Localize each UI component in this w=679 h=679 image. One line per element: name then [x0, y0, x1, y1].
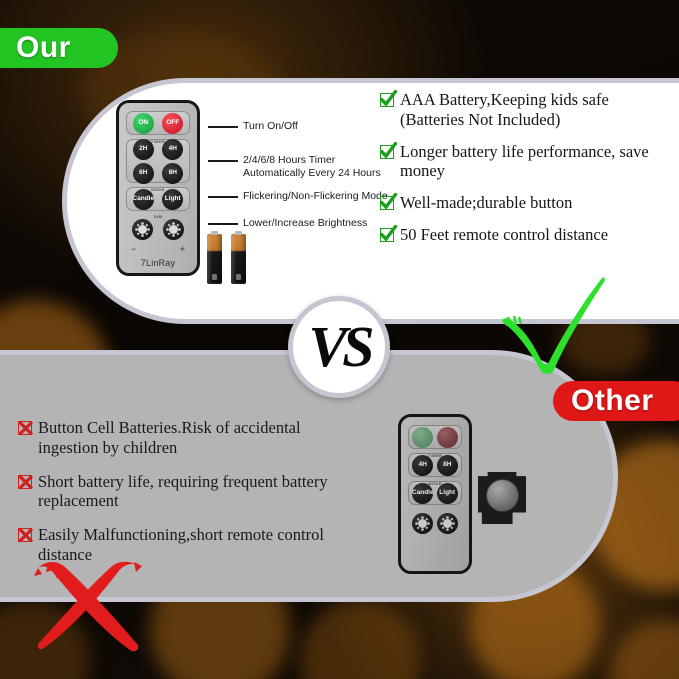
dim-plus-sign: + [180, 245, 185, 254]
other-remote-dim-down-button[interactable] [412, 513, 433, 534]
cross-icon [18, 528, 32, 542]
list-item: AAA Battery,Keeping kids safe (Batteries… [380, 90, 672, 130]
list-item: 50 Feet remote control distance [380, 225, 672, 245]
aaa-battery-pair [207, 234, 246, 284]
remote-off-button[interactable]: OFF [162, 113, 183, 134]
drawback-text: Button Cell Batteries.Risk of accidental… [38, 418, 358, 458]
coin-cell-battery-icon [478, 472, 526, 524]
remote-dim-group: DIM [126, 215, 190, 243]
our-remote-control: ON OFF TIMER 2H 4H 6H 8H MODE Candle Lig… [116, 100, 200, 276]
remote-on-button[interactable]: ON [133, 113, 154, 134]
benefit-text: AAA Battery,Keeping kids safe (Batteries… [400, 90, 672, 130]
check-icon [380, 196, 394, 210]
mode-group-label: MODE [127, 187, 189, 192]
other-timer-group-label: TIMER [409, 453, 461, 458]
callout-label: Flickering/Non-Flickering Mode [243, 190, 388, 203]
callout-leader-line [208, 160, 238, 162]
remote-power-group: ON OFF [126, 111, 190, 135]
callout-leader-line [208, 126, 238, 128]
benefits-list: AAA Battery,Keeping kids safe (Batteries… [380, 90, 672, 257]
callout-label: Turn On/Off [243, 120, 298, 133]
benefit-text: Longer battery life performance, save mo… [400, 142, 672, 182]
other-remote-mode-group: MODE Candle Light [408, 481, 462, 505]
big-check-icon [498, 276, 608, 374]
big-cross-icon [30, 558, 148, 656]
remote-timer-group: TIMER 2H 4H 6H 8H [126, 139, 190, 183]
other-remote-control: TIMER 4H 8H MODE Candle Light [398, 414, 472, 574]
list-item: Short battery life, requiring frequent b… [18, 472, 358, 512]
callout-label: 2/4/6/8 Hours Timer Automatically Every … [243, 154, 381, 181]
drawback-text: Short battery life, requiring frequent b… [38, 472, 358, 512]
our-label-text: Our [16, 31, 71, 65]
coin-cell-disc [486, 479, 519, 512]
list-item: Well-made;durable button [380, 193, 672, 213]
dim-group-label: DIM [126, 214, 190, 219]
other-mode-group-label: MODE [409, 481, 461, 486]
callout-brightness: Lower/Increase Brightness [208, 217, 367, 230]
our-label-pill: Our [0, 28, 118, 68]
vs-label: VS [309, 318, 370, 376]
callout-label: Lower/Increase Brightness [243, 217, 367, 230]
callout-leader-line [208, 223, 238, 225]
drawbacks-list: Button Cell Batteries.Risk of accidental… [18, 418, 358, 579]
remote-dim-up-button[interactable] [163, 219, 184, 240]
cross-icon [18, 475, 32, 489]
other-remote-on-button[interactable] [412, 427, 433, 448]
remote-dim-down-button[interactable] [132, 219, 153, 240]
callout-mode: Flickering/Non-Flickering Mode [208, 190, 388, 203]
callout-leader-line [208, 196, 238, 198]
remote-timer-8h-button[interactable]: 8H [162, 163, 183, 184]
benefit-text: Well-made;durable button [400, 193, 572, 213]
other-label-pill: Other [553, 381, 679, 421]
benefit-text: 50 Feet remote control distance [400, 225, 608, 245]
dim-minus-sign: − [131, 245, 136, 254]
aaa-battery-icon [207, 234, 222, 284]
callout-power: Turn On/Off [208, 120, 298, 133]
remote-mode-group: MODE Candle Light [126, 187, 190, 211]
remote-brand-label: 7LinRay [126, 258, 190, 271]
list-item: Longer battery life performance, save mo… [380, 142, 672, 182]
other-remote-power-group [408, 425, 462, 449]
callout-timer: 2/4/6/8 Hours Timer Automatically Every … [208, 154, 381, 181]
other-remote-dim-group [408, 509, 462, 537]
cross-icon [18, 421, 32, 435]
remote-timer-6h-button[interactable]: 6H [133, 163, 154, 184]
timer-group-label: TIMER [127, 139, 189, 144]
check-icon [380, 228, 394, 242]
list-item: Button Cell Batteries.Risk of accidental… [18, 418, 358, 458]
other-remote-timer-group: TIMER 4H 8H [408, 453, 462, 477]
check-icon [380, 93, 394, 107]
comparison-infographic: ON OFF TIMER 2H 4H 6H 8H MODE Candle Lig… [0, 0, 679, 679]
other-label-text: Other [571, 384, 654, 418]
other-remote-dim-up-button[interactable] [437, 513, 458, 534]
vs-badge: VS [288, 296, 390, 398]
aaa-battery-icon [231, 234, 246, 284]
other-remote-off-button[interactable] [437, 427, 458, 448]
check-icon [380, 145, 394, 159]
dim-sign-row: − + [126, 245, 190, 254]
